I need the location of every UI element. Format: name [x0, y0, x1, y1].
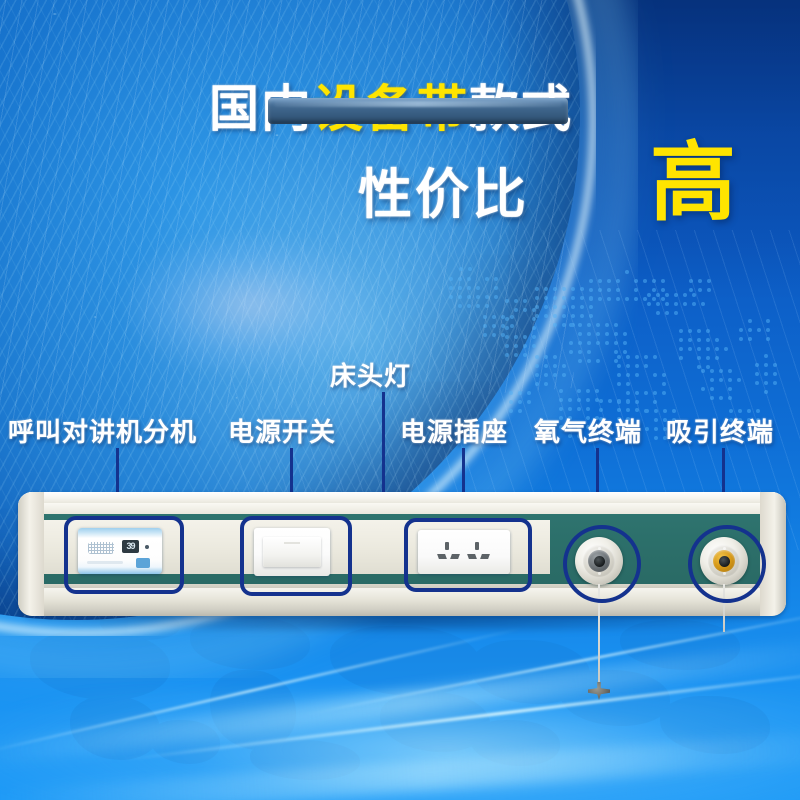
panel-slider-highlight	[274, 101, 562, 107]
panel-top-rail	[36, 502, 768, 514]
callout-label-suction-terminal: 吸引终端	[666, 412, 774, 449]
panel-top-edge	[18, 492, 786, 503]
callout-label-bed-head-lamp: 床头灯	[330, 356, 411, 393]
promo-banner: 国内设备带款式 性价比 高 呼叫对讲机分机电源开关床头灯电源插座氧气终端吸引终端…	[0, 0, 800, 800]
highlight-power-switch	[240, 516, 352, 596]
panel-endcap-left	[18, 492, 44, 616]
callout-label-nurse-call-intercom: 呼叫对讲机分机	[8, 412, 197, 449]
headline-line-2: 性价比	[358, 168, 529, 222]
highlight-suction	[688, 525, 766, 603]
callout-label-power-switch: 电源开关	[228, 412, 336, 449]
callout-label-oxygen-terminal: 氧气终端	[534, 412, 642, 449]
highlight-oxygen	[563, 525, 641, 603]
headline-emphasis-gao: 高	[650, 140, 736, 226]
highlight-intercom	[64, 516, 184, 594]
callout-label-power-socket: 电源插座	[400, 412, 508, 449]
highlight-power-socket	[404, 518, 532, 592]
